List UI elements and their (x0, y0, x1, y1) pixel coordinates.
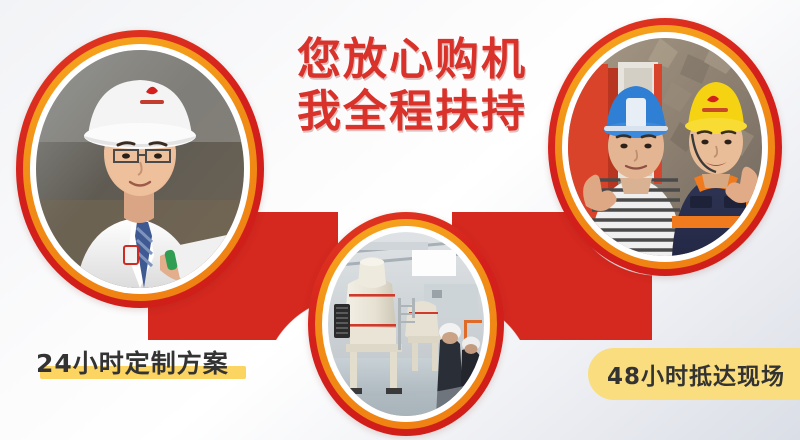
caption-right-pill: 48小时抵达现场 (588, 348, 800, 400)
headline-line-2: 我全程扶持 (280, 86, 544, 138)
photo-machinery (328, 232, 484, 416)
headline-line-1: 您放心购机 (280, 34, 544, 86)
circle-engineer-portrait (16, 30, 264, 308)
headline: 您放心购机 我全程扶持 (280, 34, 544, 138)
caption-left-text: 24小时定制方案 (36, 344, 229, 380)
caption-left: 24小时定制方案 (36, 344, 229, 380)
caption-right-text: 48小时抵达现场 (607, 357, 800, 391)
promo-banner: 您放心购机 我全程扶持 24小时定制方案 48小时抵达现场 (0, 0, 800, 440)
circle-workers-thumbs-up (548, 18, 782, 276)
photo-engineer (36, 50, 244, 288)
photo-workers (568, 38, 762, 256)
circle-factory-machinery (308, 212, 504, 436)
